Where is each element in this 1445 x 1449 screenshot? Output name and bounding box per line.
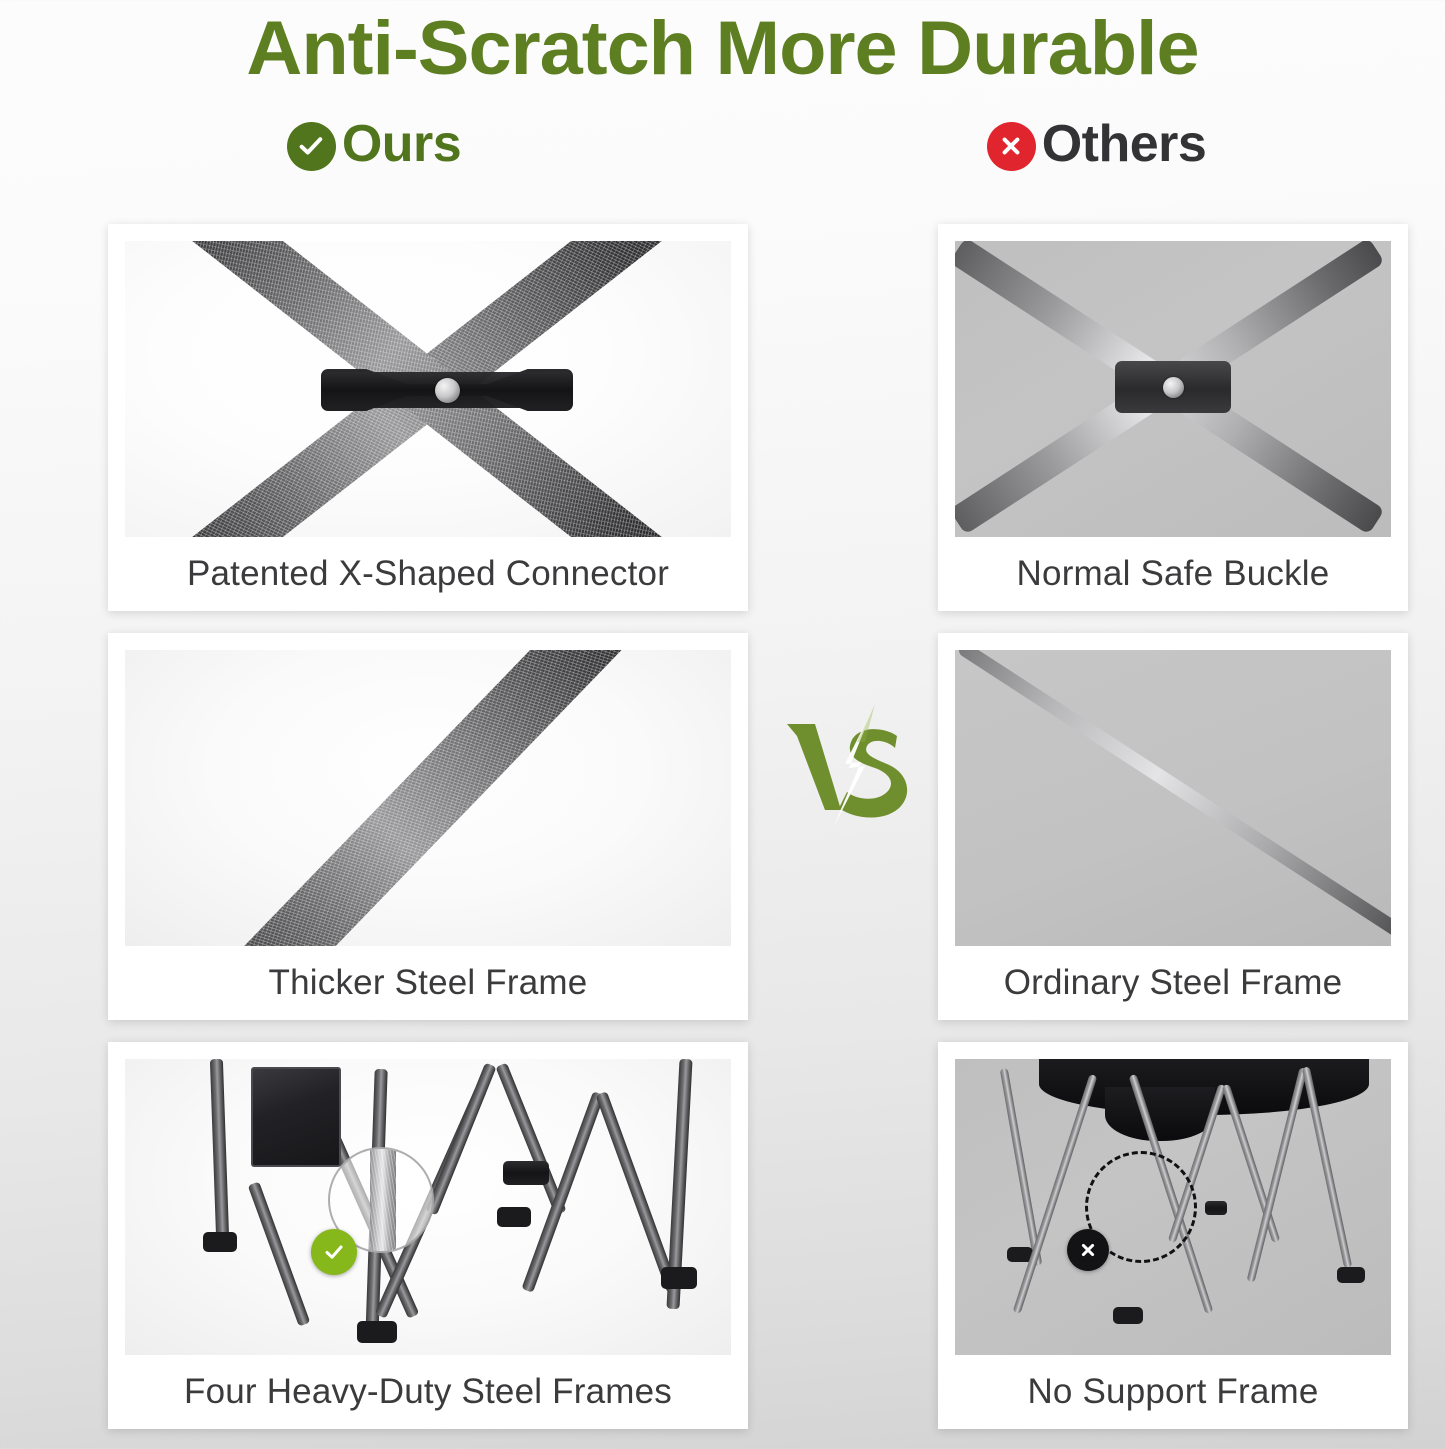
check-mark-badge <box>311 1229 357 1275</box>
ordinary-steel-frame-photo <box>955 650 1391 946</box>
column-header-others: Others <box>748 114 1445 174</box>
caption-ours-connector: Patented X-Shaped Connector <box>125 537 731 611</box>
comparison-grid: Patented X-Shaped Connector Normal Safe … <box>0 224 1445 1429</box>
x-circle-icon <box>987 122 1036 171</box>
card-others-buckle: Normal Safe Buckle <box>938 224 1408 611</box>
x-mark-badge <box>1067 1229 1109 1271</box>
column-headers: Ours Others <box>0 114 1445 174</box>
column-header-ours: Ours <box>0 114 748 174</box>
caption-others-buckle: Normal Safe Buckle <box>955 537 1391 611</box>
caption-others-ordinary-frame: Ordinary Steel Frame <box>955 946 1391 1020</box>
column-header-ours-label: Ours <box>342 114 461 174</box>
comparison-row: Thicker Steel Frame Ordinary Steel Frame <box>0 633 1445 1020</box>
comparison-row: Patented X-Shaped Connector Normal Safe … <box>0 224 1445 611</box>
card-ours-thicker-frame: Thicker Steel Frame <box>108 633 748 1020</box>
four-heavy-duty-steel-frames-photo <box>125 1059 731 1355</box>
card-ours-connector: Patented X-Shaped Connector <box>108 224 748 611</box>
caption-ours-four-frames: Four Heavy-Duty Steel Frames <box>125 1355 731 1429</box>
normal-safe-buckle-photo <box>955 241 1391 537</box>
card-ours-four-frames: Four Heavy-Duty Steel Frames <box>108 1042 748 1429</box>
card-others-no-support: No Support Frame <box>938 1042 1408 1429</box>
comparison-row: Four Heavy-Duty Steel Frames <box>0 1042 1445 1429</box>
caption-ours-thicker-frame: Thicker Steel Frame <box>125 946 731 1020</box>
thicker-steel-frame-photo <box>125 650 731 946</box>
card-others-ordinary-frame: Ordinary Steel Frame <box>938 633 1408 1020</box>
caption-others-no-support: No Support Frame <box>955 1355 1391 1429</box>
page-title: Anti-Scratch More Durable <box>0 0 1445 92</box>
check-circle-icon <box>287 122 336 171</box>
no-support-frame-photo <box>955 1059 1391 1355</box>
x-shaped-connector-photo <box>125 241 731 537</box>
column-header-others-label: Others <box>1042 114 1207 174</box>
